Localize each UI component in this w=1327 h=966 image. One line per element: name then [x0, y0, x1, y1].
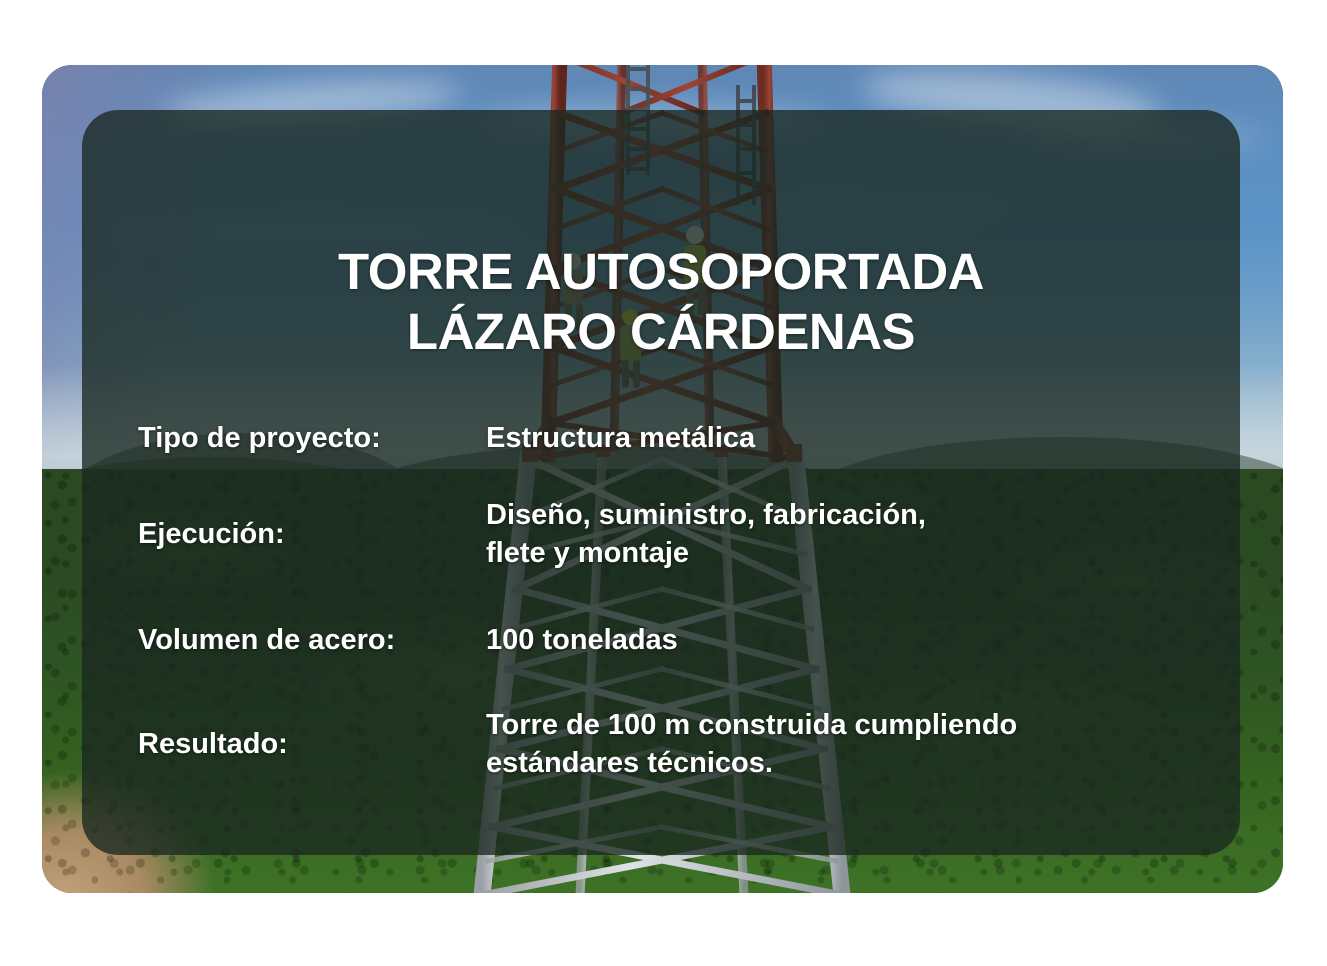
slide-canvas: TORRE AUTOSOPORTADA LÁZARO CÁRDENAS Tipo…	[0, 0, 1327, 966]
spec-label: Resultado:	[82, 727, 486, 761]
spec-label: Ejecución:	[82, 517, 486, 551]
spec-row-volumen-de-acero: Volumen de acero: 100 toneladas	[82, 612, 1240, 668]
spec-value-line: flete y montaje	[486, 534, 1240, 572]
title-line-2: LÁZARO CÁRDENAS	[82, 302, 1240, 362]
spec-value: Diseño, suministro, fabricación, flete y…	[486, 496, 1240, 572]
spec-value-line: Diseño, suministro, fabricación,	[486, 496, 1240, 534]
spec-value: Estructura metálica	[486, 419, 1240, 457]
spec-row-tipo-de-proyecto: Tipo de proyecto: Estructura metálica	[82, 410, 1240, 466]
spec-value: Torre de 100 m construida cumpliendo est…	[486, 706, 1240, 782]
spec-row-resultado: Resultado: Torre de 100 m construida cum…	[82, 706, 1240, 782]
spec-label: Tipo de proyecto:	[82, 421, 486, 455]
spec-row-ejecucion: Ejecución: Diseño, suministro, fabricaci…	[82, 496, 1240, 572]
slide-content: TORRE AUTOSOPORTADA LÁZARO CÁRDENAS Tipo…	[82, 110, 1240, 855]
spec-value-line: 100 toneladas	[486, 621, 1240, 659]
spec-value-line: Estructura metálica	[486, 419, 1240, 457]
specs-list: Tipo de proyecto: Estructura metálica Ej…	[82, 410, 1240, 782]
page-title: TORRE AUTOSOPORTADA LÁZARO CÁRDENAS	[82, 242, 1240, 362]
spec-label: Volumen de acero:	[82, 623, 486, 657]
title-line-1: TORRE AUTOSOPORTADA	[82, 242, 1240, 302]
spec-value-line: Torre de 100 m construida cumpliendo	[486, 706, 1240, 744]
spec-value-line: estándares técnicos.	[486, 744, 1240, 782]
spec-value: 100 toneladas	[486, 621, 1240, 659]
